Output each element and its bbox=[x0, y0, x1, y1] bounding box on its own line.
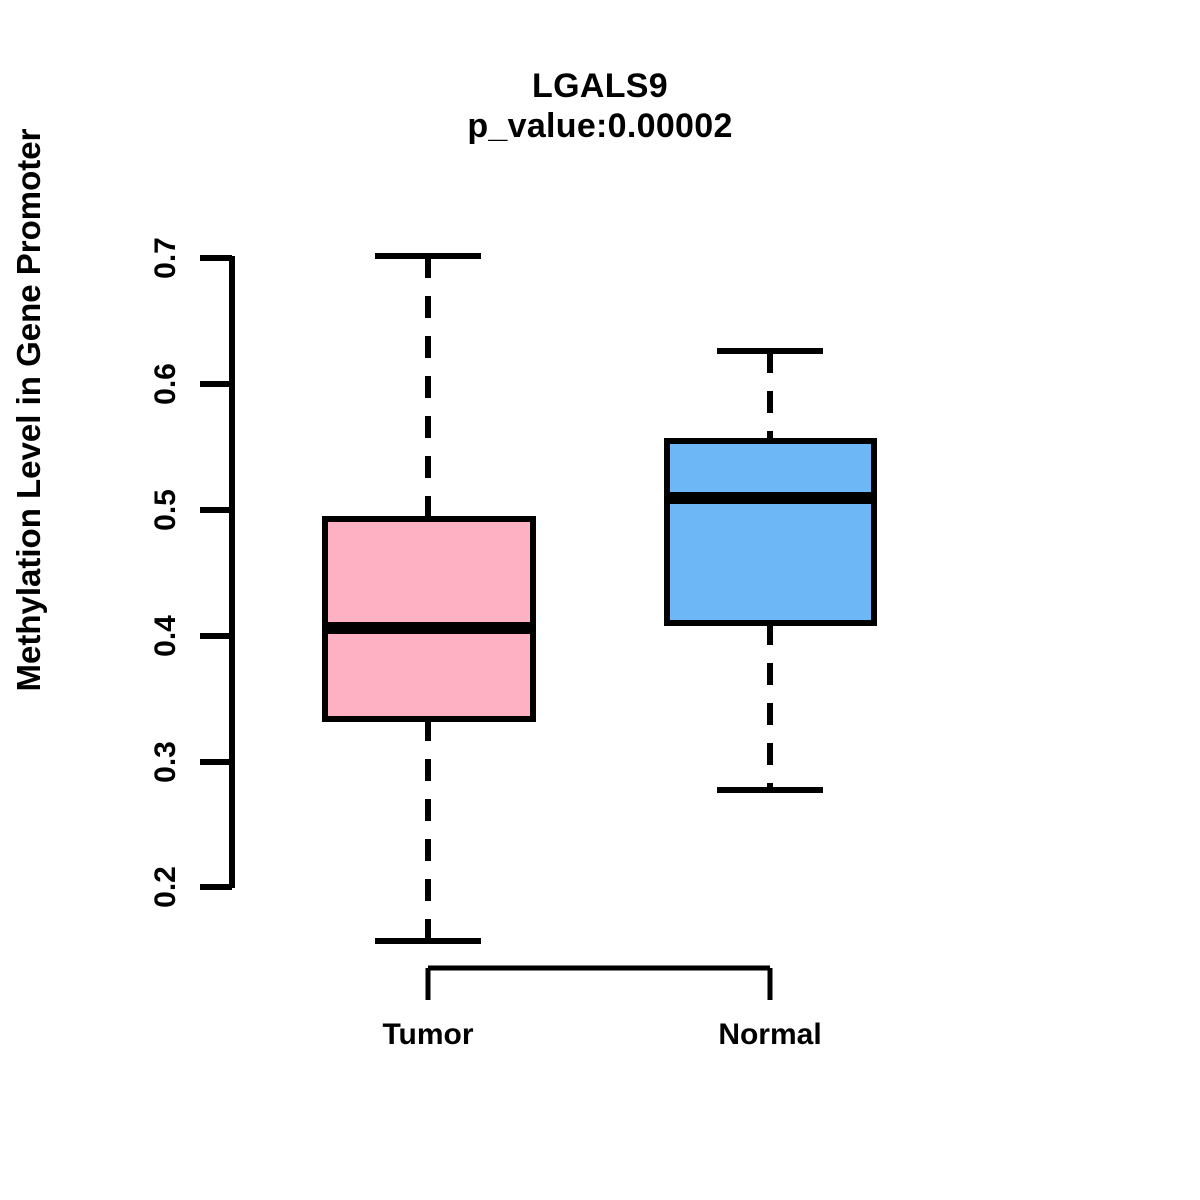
normal-box-rect bbox=[667, 441, 874, 623]
box-tumor bbox=[322, 256, 536, 941]
box-normal bbox=[664, 351, 877, 790]
boxplot-graphics bbox=[0, 0, 1200, 1200]
boxplot-figure: LGALS9 p_value:0.00002 Methylation Level… bbox=[0, 0, 1200, 1200]
y-axis bbox=[200, 256, 232, 888]
tumor-box-rect bbox=[325, 519, 533, 719]
x-axis bbox=[428, 968, 770, 1000]
